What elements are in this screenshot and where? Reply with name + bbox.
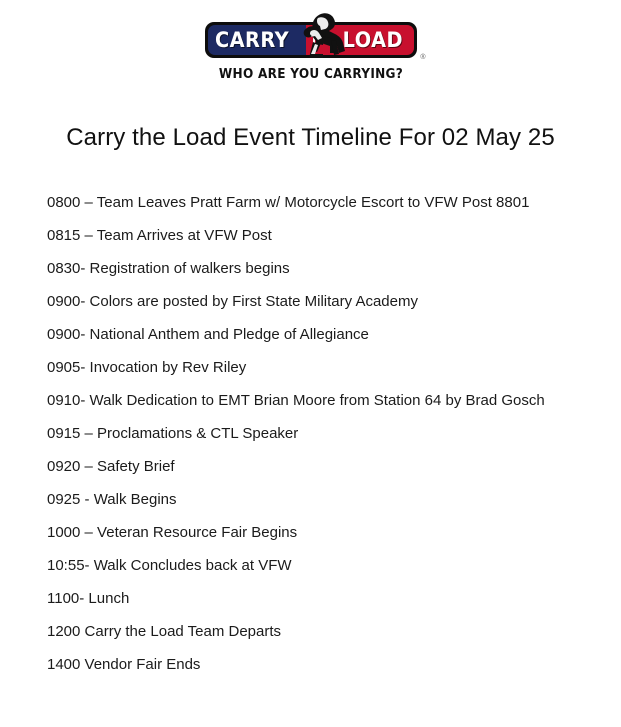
timeline-entry: 0830- Registration of walkers begins [47,261,621,276]
timeline-entry: 0915 – Proclamations & CTL Speaker [47,426,621,441]
page-title: Carry the Load Event Timeline For 02 May… [0,124,621,153]
timeline-entry: 0910- Walk Dedication to EMT Brian Moore… [47,393,621,408]
registered-trademark-icon: ® [420,54,425,61]
timeline-entry: 0800 – Team Leaves Pratt Farm w/ Motorcy… [47,195,621,210]
timeline-entry: 0925 - Walk Begins [47,492,621,507]
logo-tagline: WHO ARE YOU CARRYING? [218,67,402,82]
timeline-entry: 0900- Colors are posted by First State M… [47,294,621,309]
logo-header: CARRY THE LOAD ® WHO ARE YOU [0,0,621,82]
timeline-entry: 1000 – Veteran Resource Fair Begins [47,525,621,540]
soldier-carrying-figure-icon [291,12,347,58]
logo-word-carry: CARRY [215,30,289,51]
timeline-entry: 1400 Vendor Fair Ends [47,657,621,672]
timeline-entry: 0920 – Safety Brief [47,459,621,474]
timeline-entry: 1200 Carry the Load Team Departs [47,624,621,639]
timeline-entry: 0815 – Team Arrives at VFW Post [47,228,621,243]
carry-the-load-logo: CARRY THE LOAD ® [205,12,417,60]
timeline-entry: 0900- National Anthem and Pledge of Alle… [47,327,621,342]
timeline-entry: 10:55- Walk Concludes back at VFW [47,558,621,573]
event-timeline-list: 0800 – Team Leaves Pratt Farm w/ Motorcy… [0,153,621,672]
timeline-entry: 0905- Invocation by Rev Riley [47,360,621,375]
timeline-entry: 1100- Lunch [47,591,621,606]
logo-word-load: LOAD [343,30,403,51]
